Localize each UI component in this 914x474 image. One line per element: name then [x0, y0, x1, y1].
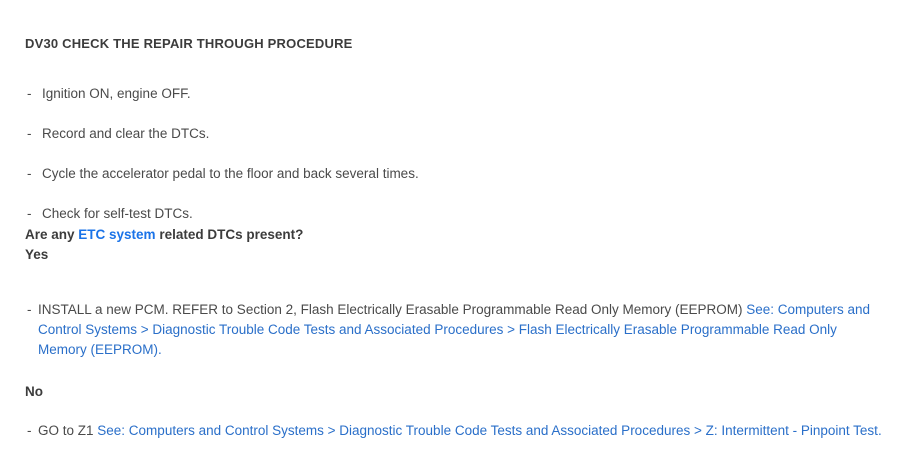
- bullet-dash-icon: -: [27, 300, 32, 320]
- list-item: - Check for self-test DTCs.: [25, 205, 889, 223]
- action-text: INSTALL a new PCM. REFER to Section 2, F…: [38, 302, 746, 317]
- action-text: GO to Z1: [38, 423, 97, 438]
- branch-label-no: No: [25, 382, 889, 401]
- step-text: Record and clear the DTCs.: [42, 126, 209, 141]
- intermittent-pinpoint-test-link[interactable]: See: Computers and Control Systems > Dia…: [97, 423, 878, 438]
- bullet-dash-icon: -: [27, 205, 32, 223]
- list-item: - Record and clear the DTCs.: [25, 125, 889, 143]
- branch-no-action: -GO to Z1 See: Computers and Control Sys…: [25, 421, 889, 441]
- decision-question: Are any ETC system related DTCs present?: [25, 223, 889, 244]
- branch-no-label-wrap: No: [25, 360, 889, 401]
- step-text: Check for self-test DTCs.: [42, 206, 193, 221]
- bullet-dash-icon: -: [27, 421, 32, 441]
- branch-yes-action: -INSTALL a new PCM. REFER to Section 2, …: [25, 300, 889, 360]
- step-text: Ignition ON, engine OFF.: [42, 86, 191, 101]
- bullet-dash-icon: -: [27, 165, 32, 183]
- list-item: - Ignition ON, engine OFF.: [25, 85, 889, 103]
- bullet-dash-icon: -: [27, 125, 32, 143]
- branch-yes-body: -INSTALL a new PCM. REFER to Section 2, …: [25, 264, 889, 360]
- list-item: - Cycle the accelerator pedal to the flo…: [25, 165, 889, 183]
- bullet-dash-icon: -: [27, 85, 32, 103]
- branch-no-body: -GO to Z1 See: Computers and Control Sys…: [25, 401, 889, 441]
- action-period: .: [878, 423, 882, 438]
- procedure-step-list: - Ignition ON, engine OFF. - Record and …: [25, 52, 889, 223]
- action-period: .: [158, 342, 162, 357]
- page-title: DV30 CHECK THE REPAIR THROUGH PROCEDURE: [25, 0, 889, 52]
- document-page: DV30 CHECK THE REPAIR THROUGH PROCEDURE …: [0, 0, 914, 474]
- branch-label-yes: Yes: [25, 244, 889, 264]
- question-prefix: Are any: [25, 227, 78, 242]
- step-text: Cycle the accelerator pedal to the floor…: [42, 166, 419, 181]
- etc-system-link[interactable]: ETC system: [78, 227, 155, 242]
- question-suffix: related DTCs present?: [156, 227, 304, 242]
